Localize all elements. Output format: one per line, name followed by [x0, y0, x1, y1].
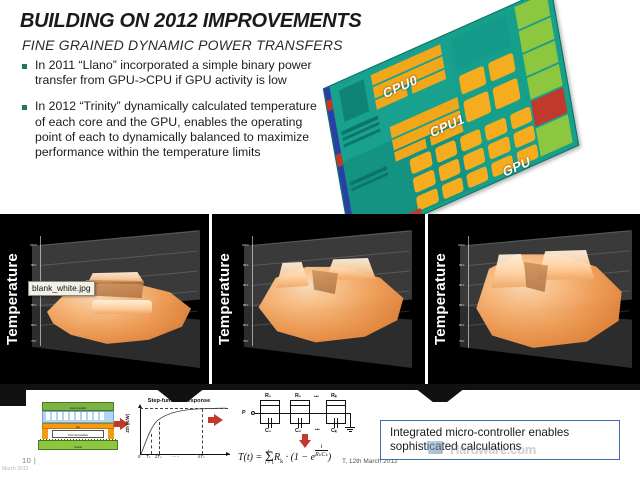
formula-sum: k Σ i = 1 [265, 450, 274, 466]
thermal-formula: T(t) = k Σ i = 1 Rk · (1 − e t RₖCₖ ) [238, 444, 331, 466]
step-function-chart: Step-function response Zth (K/W) 0 Tₛ 2T… [126, 398, 232, 460]
resistor-ellipsis: ••• [314, 394, 319, 399]
pkg-layer-die: Die [42, 423, 114, 429]
exp-numerator: t [315, 444, 328, 451]
chart-marker [151, 434, 152, 454]
callout-text: Integrated micro-controller enables soph… [390, 426, 610, 454]
chart-xtick: Tₛ [146, 454, 150, 459]
chart-xtick: 2Tₛ [155, 454, 161, 459]
plot-divider [425, 214, 428, 384]
plot-valley [86, 280, 144, 298]
plot-tick: 85.0 [31, 303, 36, 307]
chart-xtick: ······ [171, 454, 179, 459]
rc-port-label: P [242, 410, 246, 416]
temperature-plot-1: Temperature 100.0 95.0 90.0 85.0 80.0 75… [0, 214, 212, 384]
capacitor-label-2: C₂ [295, 428, 301, 434]
chart-marker [202, 409, 203, 454]
plot-axis-label: Temperature [216, 230, 233, 368]
chart-xtick: 0 [138, 454, 140, 459]
resistor-2 [290, 400, 310, 406]
plot-tick: 100.0 [242, 243, 249, 247]
temperature-plot-2: Temperature 100.0 95.0 90.0 85.0 80.0 75… [212, 214, 424, 384]
pkg-label: Heat spreader [43, 406, 113, 410]
plot-tick: 75.0 [459, 339, 464, 343]
pkg-label: Socket [39, 445, 117, 449]
plot-tick: 90.0 [243, 283, 248, 287]
temperature-plot-3: Temperature 100.0 95.0 90.0 85.0 80.0 75… [428, 214, 640, 384]
plot-tick: 85.0 [243, 303, 248, 307]
exp-denominator: RₖCₖ [315, 451, 328, 458]
plot-tick: 80.0 [243, 323, 248, 327]
plot-tick: 95.0 [31, 263, 36, 267]
formula-mid: · (1 − e [283, 452, 315, 463]
plot-tick: 95.0 [459, 263, 464, 267]
plot-divider [209, 214, 212, 384]
plot-z-axis [468, 236, 469, 348]
slide-canvas: BUILDING ON 2012 IMPROVEMENTS FINE GRAIN… [0, 0, 640, 478]
pkg-layer-thermal-interface: Thermal interface [52, 430, 104, 438]
page-title: BUILDING ON 2012 IMPROVEMENTS [20, 10, 361, 33]
resistor-label-2: R₂ [295, 393, 301, 399]
pkg-layer-socket: Socket [38, 440, 118, 450]
bullet-square-icon [22, 64, 27, 69]
plot-tick: 75.0 [243, 339, 248, 343]
plot-valley [524, 262, 548, 292]
package-cross-section: Heat spreader Die Thermal interface Sock… [36, 400, 120, 452]
list-item: In 2011 “Llano” incorporated a simple bi… [22, 58, 322, 88]
formula-lhs: T(t) = [238, 452, 262, 463]
plot-tick: 90.0 [459, 283, 464, 287]
die-photo: CPU0 CPU1 GPU [318, 26, 634, 221]
resistor-1 [260, 400, 280, 406]
capacitor-label-k: Cₖ [331, 428, 337, 434]
pkg-label: Thermal interface [53, 433, 103, 437]
temperature-plot-strip: Temperature 100.0 95.0 90.0 85.0 80.0 75… [0, 214, 640, 384]
page-subtitle: FINE GRAINED DYNAMIC POWER TRANSFERS [22, 37, 343, 53]
sum-lower: i = 1 [265, 461, 274, 466]
image-tooltip: blank_white.jpg [28, 281, 95, 296]
resistor-k [326, 400, 346, 406]
plot-z-axis [252, 236, 253, 346]
chart-asymptote [140, 408, 228, 409]
capacitor-ellipsis: ••• [315, 427, 320, 432]
formula-end: ) [328, 452, 331, 463]
plot-axis-label: Temperature [432, 230, 449, 368]
plot-tick: 95.0 [243, 263, 248, 267]
rc-network-diagram: P R₁ C₁ R₂ C₂ Rₖ [240, 394, 356, 442]
slide-number: 10 | [22, 456, 36, 465]
list-item: In 2012 “Trinity” dynamically calculated… [22, 99, 322, 160]
plot-tick: 85.0 [459, 303, 464, 307]
plot-axis-label: Temperature [4, 230, 21, 368]
pkg-layer-heatspreader: Heat spreader [42, 402, 114, 411]
chart-xtick: nTₛ [198, 454, 204, 459]
bullet-text: In 2011 “Llano” incorporated a simple bi… [35, 58, 322, 88]
plot-ridge [92, 300, 152, 314]
chart-marker [159, 422, 160, 454]
plot-tick: 75.0 [31, 339, 36, 343]
plot-tick: 100.0 [30, 243, 37, 247]
bullet-square-icon [22, 105, 27, 110]
watermark-badge-icon [428, 441, 443, 454]
plot-tick: 80.0 [31, 323, 36, 327]
resistor-label-1: R₁ [265, 393, 271, 399]
plot-tick: 80.0 [459, 323, 464, 327]
plot-tick: 100.0 [458, 243, 465, 247]
bullet-list: In 2011 “Llano” incorporated a simple bi… [22, 58, 322, 171]
watermark-date: March 2012 [2, 466, 28, 472]
callout-box: Integrated micro-controller enables soph… [380, 420, 620, 460]
capacitor-label-1: C₁ [265, 428, 271, 434]
resistor-label-k: Rₖ [331, 393, 337, 399]
pkg-label: Die [43, 425, 113, 429]
bullet-text: In 2012 “Trinity” dynamically calculated… [35, 99, 322, 160]
